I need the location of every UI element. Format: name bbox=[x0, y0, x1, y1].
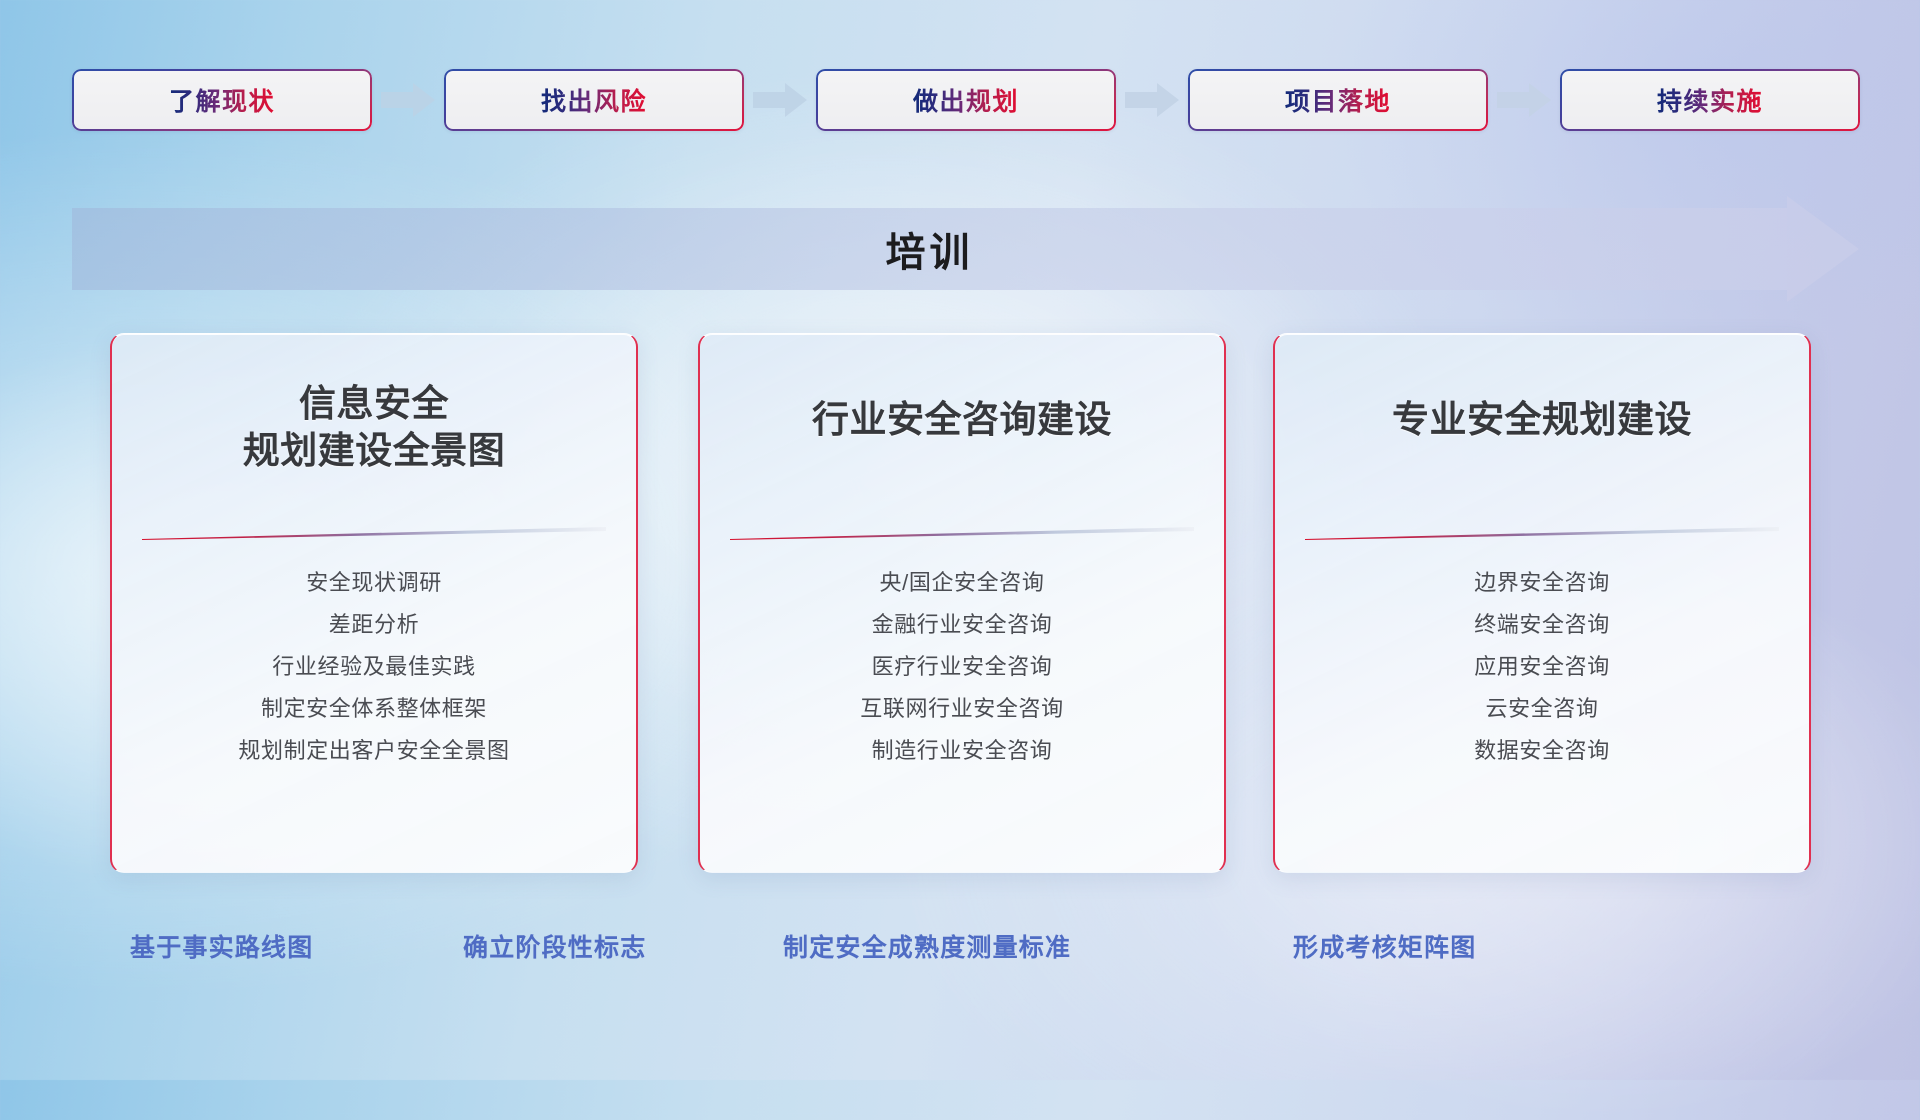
card-title-line-1: 行业安全咨询建设 bbox=[714, 396, 1210, 443]
list-item: 应用安全咨询 bbox=[1275, 646, 1809, 688]
list-item: 终端安全咨询 bbox=[1275, 604, 1809, 646]
step-chip-3[interactable]: 做出规划 bbox=[816, 69, 1116, 131]
card-title: 行业安全咨询建设 bbox=[700, 396, 1224, 443]
list-item: 金融行业安全咨询 bbox=[700, 604, 1224, 646]
outcome-caption-4: 形成考核矩阵图 bbox=[1293, 928, 1476, 964]
background-bloom-top-right bbox=[1330, 0, 1920, 360]
step-arrow-icon-3 bbox=[1125, 83, 1179, 117]
card-divider-icon bbox=[730, 526, 1194, 540]
step-chip-1[interactable]: 了解现状 bbox=[72, 69, 372, 131]
service-card-industry-consulting[interactable]: 行业安全咨询建设 央/国企安全咨询 金融行业安全咨询 医疗行业安全咨 bbox=[698, 333, 1226, 873]
list-item: 制定安全体系整体框架 bbox=[112, 688, 636, 730]
outcome-caption-row: 基于事实路线图 确立阶段性标志 制定安全成熟度测量标准 形成考核矩阵图 bbox=[0, 928, 1920, 978]
list-item: 边界安全咨询 bbox=[1275, 562, 1809, 604]
list-item: 数据安全咨询 bbox=[1275, 730, 1809, 772]
list-item: 互联网行业安全咨询 bbox=[700, 688, 1224, 730]
step-chip-2[interactable]: 找出风险 bbox=[444, 69, 744, 131]
card-title: 信息安全 规划建设全景图 bbox=[112, 380, 636, 475]
list-item: 央/国企安全咨询 bbox=[700, 562, 1224, 604]
card-item-list: 边界安全咨询 终端安全咨询 应用安全咨询 云安全咨询 数据安全咨询 bbox=[1275, 562, 1809, 772]
card-title: 专业安全规划建设 bbox=[1275, 396, 1809, 443]
list-item: 安全现状调研 bbox=[112, 562, 636, 604]
step-arrow-icon-1 bbox=[381, 83, 435, 117]
outcome-caption-3: 制定安全成熟度测量标准 bbox=[783, 928, 1071, 964]
step-chip-5[interactable]: 持续实施 bbox=[1560, 69, 1860, 131]
step-label: 项目落地 bbox=[1285, 82, 1391, 118]
card-item-list: 央/国企安全咨询 金融行业安全咨询 医疗行业安全咨询 互联网行业安全咨询 制造行… bbox=[700, 562, 1224, 772]
step-chip-4[interactable]: 项目落地 bbox=[1188, 69, 1488, 131]
card-title-line-1: 信息安全 bbox=[126, 380, 622, 427]
list-item: 规划制定出客户安全全景图 bbox=[112, 730, 636, 772]
card-divider-icon bbox=[142, 526, 606, 540]
card-title-line-1: 专业安全规划建设 bbox=[1289, 396, 1795, 443]
outcome-caption-2: 确立阶段性标志 bbox=[463, 928, 646, 964]
list-item: 差距分析 bbox=[112, 604, 636, 646]
service-card-group: 信息安全 规划建设全景图 安全现状调研 差距分析 行业经 bbox=[110, 333, 1810, 548]
step-label: 了解现状 bbox=[169, 82, 275, 118]
card-title-line-2: 规划建设全景图 bbox=[126, 427, 622, 474]
step-arrow-icon-2 bbox=[753, 83, 807, 117]
outcome-caption-1: 基于事实路线图 bbox=[130, 928, 313, 964]
training-banner-arrow-icon bbox=[1787, 196, 1859, 302]
card-divider-icon bbox=[1305, 526, 1779, 540]
list-item: 云安全咨询 bbox=[1275, 688, 1809, 730]
step-label: 找出风险 bbox=[541, 82, 647, 118]
process-step-flow: 了解现状 找出风险 做出规划 项目落地 持续实施 bbox=[72, 68, 1850, 132]
training-banner-label: 培训 bbox=[72, 208, 1787, 290]
training-banner: 培训 bbox=[72, 208, 1862, 290]
card-item-list: 安全现状调研 差距分析 行业经验及最佳实践 制定安全体系整体框架 规划制定出客户… bbox=[112, 562, 636, 772]
step-arrow-icon-4 bbox=[1497, 83, 1551, 117]
step-label: 持续实施 bbox=[1657, 82, 1763, 118]
list-item: 医疗行业安全咨询 bbox=[700, 646, 1224, 688]
service-card-information-security[interactable]: 信息安全 规划建设全景图 安全现状调研 差距分析 行业经 bbox=[110, 333, 638, 873]
service-card-professional-planning[interactable]: 专业安全规划建设 边界安全咨询 终端安全咨询 应用安全咨询 bbox=[1273, 333, 1811, 873]
list-item: 制造行业安全咨询 bbox=[700, 730, 1224, 772]
step-label: 做出规划 bbox=[913, 82, 1019, 118]
list-item: 行业经验及最佳实践 bbox=[112, 646, 636, 688]
